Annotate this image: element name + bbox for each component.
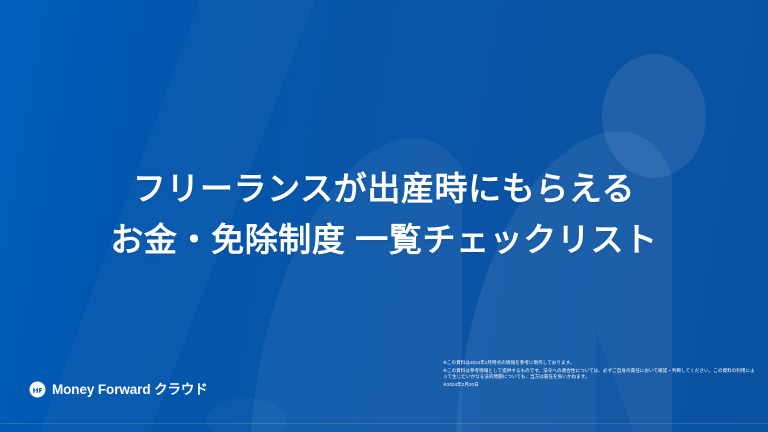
disclaimer-line-2: ※この資料は参考情報として提供するものです。法令への適合性については、必ずご自身… xyxy=(443,368,755,381)
bottom-divider xyxy=(0,423,768,424)
money-forward-cloud-logo: Money Forward クラウド xyxy=(29,381,208,398)
logo-wordmark: Money Forward クラウド xyxy=(52,381,208,398)
title-line-2: お金・免除制度 一覧チェックリスト xyxy=(0,214,768,265)
watermark-dot xyxy=(602,54,706,178)
disclaimer-block: ※この資料は2024年2月時点の情報を参考に制作しております。 ※この資料は参考… xyxy=(443,360,755,389)
money-forward-mark-icon xyxy=(29,381,46,398)
page-title: フリーランスが出産時にもらえる お金・免除制度 一覧チェックリスト xyxy=(0,163,768,265)
disclaimer-line-1: ※この資料は2024年2月時点の情報を参考に制作しております。 xyxy=(443,360,755,367)
title-line-1: フリーランスが出産時にもらえる xyxy=(0,163,768,214)
disclaimer-line-3: ※2024年2月20日 xyxy=(443,382,755,389)
slide-canvas: フリーランスが出産時にもらえる お金・免除制度 一覧チェックリスト ※この資料は… xyxy=(0,0,768,432)
